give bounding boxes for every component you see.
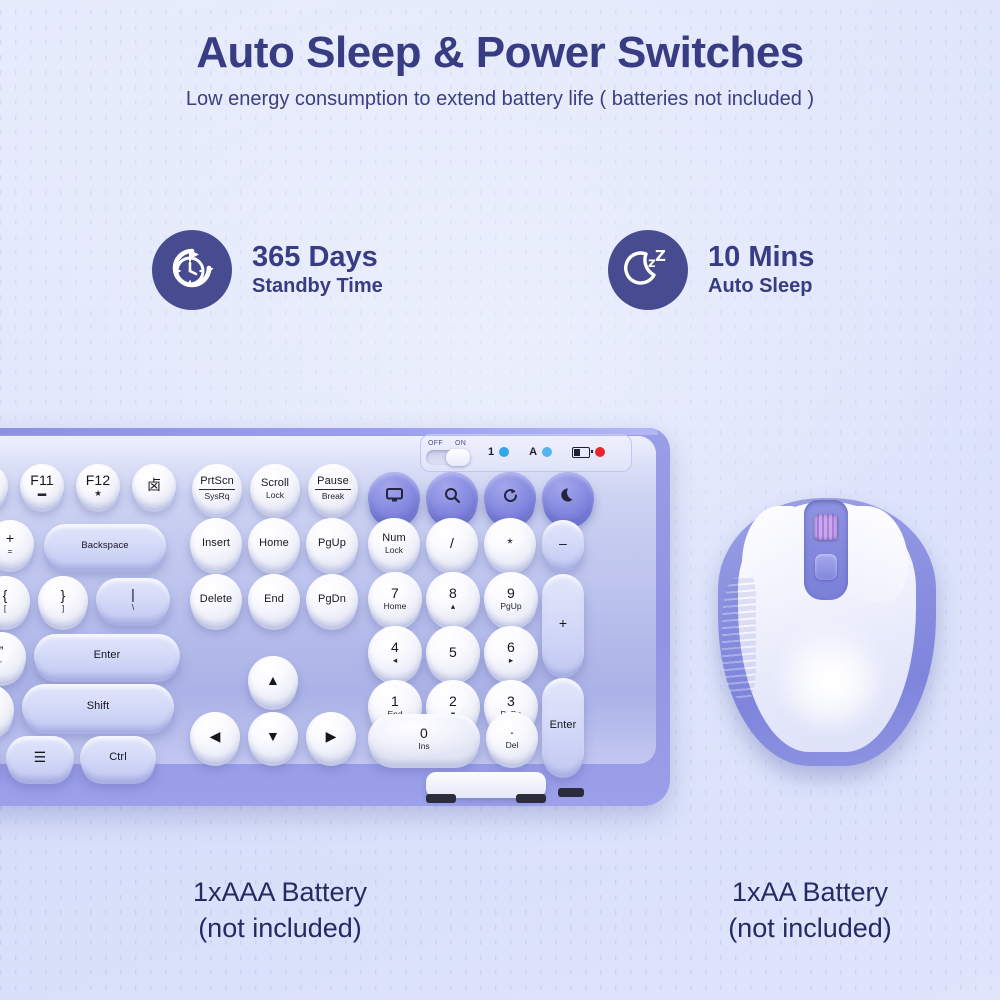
key-shift[interactable]: Shift (22, 684, 174, 730)
key-sublabel: ★ (94, 489, 102, 498)
caption-line-1: 1xAAA Battery (80, 874, 480, 910)
key-label: Num (382, 533, 406, 545)
key-np8[interactable]: 8▴ (426, 572, 480, 626)
key-label: + (6, 531, 14, 546)
key-home[interactable]: Home (248, 518, 300, 570)
fn-key-monitor[interactable] (368, 472, 420, 524)
fn-key-search[interactable] (426, 472, 478, 524)
key-np7[interactable]: 7Home (368, 572, 422, 626)
badge-headline: 10 Mins (708, 241, 814, 274)
key-np-divide[interactable]: / (426, 518, 478, 570)
key-label: 1 (391, 694, 399, 709)
key-label: Enter (550, 720, 577, 732)
wireless-keyboard[interactable]: OFF ON 1 A (0, 428, 670, 806)
key-sublabel: ▬ (38, 489, 47, 498)
key-sublabel: ▸ (509, 656, 513, 665)
key-label: 4 (391, 640, 399, 655)
key-menu[interactable]: ☰ (6, 736, 74, 780)
key-prtscn[interactable]: PrtScnSysRq (192, 464, 242, 514)
key-sublabel: ] (62, 604, 64, 613)
key-arrow-right[interactable]: ▶ (306, 712, 356, 762)
key-enter[interactable]: Enter (34, 634, 180, 678)
key-np-plus[interactable]: + (542, 574, 584, 674)
num-lock-indicator: 1 (488, 446, 509, 458)
key-np5[interactable]: 5 (426, 626, 480, 680)
badge-icon-wrap (152, 230, 232, 310)
key-label: Enter (94, 650, 121, 662)
key-label: · (510, 725, 515, 740)
badge-icon-wrap: z Z (608, 230, 688, 310)
key-ctrl[interactable]: Ctrl (80, 736, 156, 780)
key-pgup[interactable]: PgUp (306, 518, 358, 570)
key-backspace[interactable]: Backspace (44, 524, 166, 568)
key-label: + (559, 616, 567, 631)
key-backslash[interactable]: |\ (96, 578, 170, 622)
key-label: ◀ (210, 729, 221, 744)
indicator-leds: 1 A (488, 446, 605, 458)
key-np4[interactable]: 4◂ (368, 626, 422, 680)
key-sublabel: Lock (266, 491, 284, 500)
badge-subline: Standby Time (252, 274, 383, 299)
keyboard-foot (558, 788, 584, 797)
led-dot (499, 447, 509, 457)
key-label: Insert (202, 538, 230, 550)
key-sublabel: PgUp (500, 602, 521, 611)
badge-text: 365 Days Standby Time (252, 241, 383, 299)
key-sublabel: \ (132, 603, 134, 612)
key-np-enter[interactable]: Enter (542, 678, 584, 774)
key-pgdn[interactable]: PgDn (306, 574, 358, 626)
key-label: F11 (30, 473, 53, 488)
key-label: ▼ (266, 729, 280, 744)
page-title: Auto Sleep & Power Switches (0, 28, 1000, 78)
key-sublabel: Home (384, 602, 407, 611)
key-f12[interactable]: F12★ (76, 464, 120, 508)
key-sublabel: [ (4, 604, 6, 613)
key-label: Shift (87, 701, 110, 713)
scroll-wheel[interactable] (814, 514, 838, 540)
keyboard-foot (426, 794, 456, 803)
key-label: 8 (449, 586, 457, 601)
fn-key-sleep[interactable] (542, 472, 594, 524)
badge-headline: 365 Days (252, 241, 383, 274)
key-label: Backspace (81, 541, 128, 551)
feature-badge-autosleep: z Z 10 Mins Auto Sleep (608, 230, 814, 310)
key-insert-top[interactable]: 卤 (132, 464, 176, 508)
key-label: – (559, 536, 567, 551)
key-label: ” (0, 644, 3, 659)
moon-icon (560, 487, 576, 508)
key-divider (315, 489, 351, 490)
key-insert[interactable]: Insert (190, 518, 242, 570)
key-label: 6 (507, 640, 515, 655)
mouse-side-grip (722, 578, 756, 698)
led-dot (595, 447, 605, 457)
key-label: 2 (449, 694, 457, 709)
key-label: / (450, 536, 454, 551)
key-np-minus[interactable]: – (542, 520, 584, 568)
search-icon (444, 487, 461, 508)
key-label: 3 (507, 694, 515, 709)
mouse-highlight (770, 618, 890, 738)
key-rbracket[interactable]: }] (38, 576, 88, 626)
caption-line-2: (not included) (80, 910, 480, 946)
key-label: 9 (507, 586, 515, 601)
key-sublabel: Lock (385, 546, 403, 555)
key-sublabel: Ins (418, 742, 429, 751)
key-np-mult[interactable]: * (484, 518, 536, 570)
key-label: 5 (449, 645, 457, 660)
key-sublabel: Break (322, 492, 344, 501)
key-label: 卤 (147, 478, 161, 493)
key-label: { (3, 588, 8, 603)
product-feature-slide: Auto Sleep & Power Switches Low energy c… (0, 0, 1000, 1000)
key-label: PrtScn (200, 476, 234, 488)
keyboard-foot (516, 794, 546, 803)
key-numlock[interactable]: NumLock (368, 518, 420, 570)
indicator-label: A (529, 446, 537, 458)
key-delete[interactable]: Delete (190, 574, 242, 626)
svg-text:Z: Z (655, 247, 666, 265)
key-sublabel: Del (506, 741, 519, 750)
refresh-icon (502, 487, 519, 508)
badge-subline: Auto Sleep (708, 274, 814, 299)
fn-key-refresh[interactable] (484, 472, 536, 524)
key-label: F12 (86, 473, 110, 488)
dpi-button[interactable] (815, 554, 837, 580)
key-label: Delete (200, 594, 232, 606)
clock-rotate-icon (165, 241, 219, 300)
key-f11[interactable]: F11▬ (20, 464, 64, 508)
key-pause[interactable]: PauseBreak (308, 464, 358, 514)
indicator-label: 1 (488, 446, 494, 458)
key-label: ▲ (266, 673, 280, 688)
key-label: Ctrl (109, 752, 127, 764)
battery-indicator (572, 447, 605, 458)
key-label: End (264, 594, 284, 606)
caps-lock-indicator: A (529, 446, 552, 458)
moon-sleep-icon: z Z (621, 241, 675, 300)
caption-mouse-battery: 1xAA Battery (not included) (630, 874, 990, 947)
key-scrolllock[interactable]: ScrollLock (250, 464, 300, 514)
key-label: 7 (391, 586, 399, 601)
key-label: PgDn (318, 594, 346, 606)
key-arrow-down[interactable]: ▼ (248, 712, 298, 762)
badge-text: 10 Mins Auto Sleep (708, 241, 814, 299)
led-dot (542, 447, 552, 457)
switch-off-label: OFF (428, 440, 443, 447)
key-arrow-left[interactable]: ◀ (190, 712, 240, 762)
key-label: * (507, 536, 513, 551)
key-label: ▶ (326, 729, 337, 744)
power-switch-knob[interactable] (446, 449, 470, 466)
key-label: } (61, 588, 66, 603)
key-sublabel: ’ (0, 660, 2, 669)
key-end[interactable]: End (248, 574, 300, 626)
key-sublabel: SysRq (204, 492, 229, 501)
key-sublabel: = (8, 547, 13, 556)
key-divider (199, 489, 235, 490)
wireless-mouse[interactable] (718, 498, 936, 766)
key-label: 0 (420, 726, 428, 741)
caption-line-1: 1xAA Battery (630, 874, 990, 910)
caption-keyboard-battery: 1xAAA Battery (not included) (80, 874, 480, 947)
key-np6[interactable]: 6▸ (484, 626, 538, 680)
key-label: Pause (317, 476, 349, 488)
key-sublabel: ◂ (393, 656, 397, 665)
page-subtitle: Low energy consumption to extend battery… (0, 88, 1000, 111)
caption-line-2: (not included) (630, 910, 990, 946)
key-label: | (131, 587, 135, 602)
key-arrow-up[interactable]: ▲ (248, 656, 298, 706)
key-np9[interactable]: 9PgUp (484, 572, 538, 626)
key-label: ☰ (34, 750, 47, 765)
key-np0[interactable]: 0Ins (368, 714, 480, 764)
battery-icon (572, 447, 590, 458)
key-label: Home (259, 538, 289, 550)
key-np-dot[interactable]: ·Del (486, 712, 538, 764)
switch-on-label: ON (455, 440, 466, 447)
key-label: Scroll (261, 478, 289, 490)
monitor-icon (386, 488, 403, 507)
key-label: PgUp (318, 538, 346, 550)
feature-badge-standby: 365 Days Standby Time (152, 230, 383, 310)
key-sublabel: ▴ (451, 602, 455, 611)
